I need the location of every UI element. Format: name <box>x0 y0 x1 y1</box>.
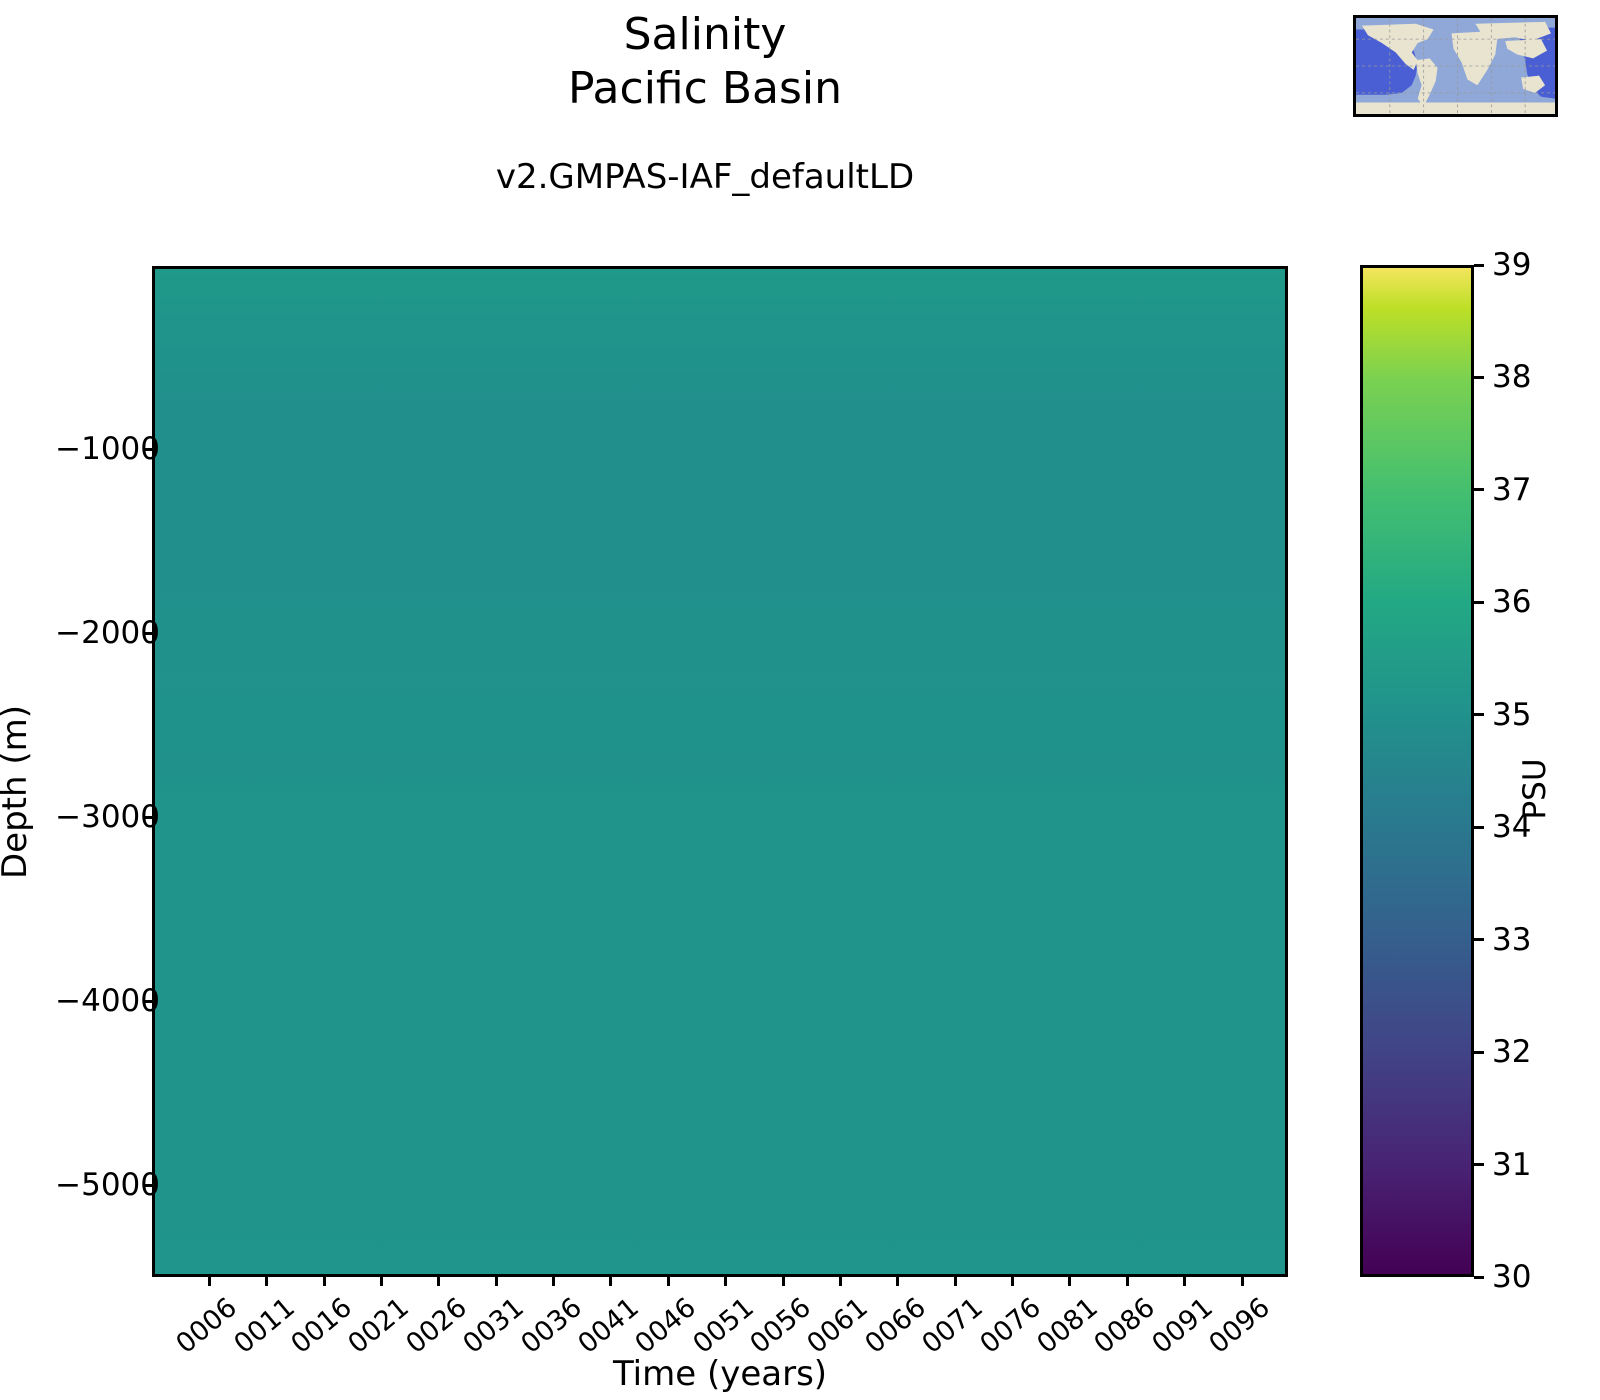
colorbar-tick-label: 32 <box>1492 1034 1531 1070</box>
x-axis-tick <box>609 1277 612 1286</box>
colorbar-label: PSU <box>1517 709 1553 869</box>
colorbar <box>1360 265 1474 1277</box>
x-axis-tick-label: 0036 <box>515 1292 588 1360</box>
y-axis-tick-label: −4000 <box>55 983 160 1019</box>
x-axis-tick-label: 0081 <box>1031 1292 1104 1360</box>
colorbar-tick-label: 39 <box>1492 247 1531 283</box>
x-axis-label: Time (years) <box>152 1354 1288 1394</box>
colorbar-tick-label: 33 <box>1492 922 1531 958</box>
x-axis-tick-label: 0071 <box>917 1292 990 1360</box>
colorbar-tick <box>1474 826 1484 829</box>
y-axis-tick-label: −2000 <box>55 615 160 651</box>
x-axis-tick <box>1183 1277 1186 1286</box>
y-axis-label: Depth (m) <box>0 492 35 1092</box>
pacific-basin-locator-map <box>1353 15 1558 117</box>
x-axis-tick-label: 0031 <box>458 1292 531 1360</box>
colorbar-tick <box>1474 1276 1484 1279</box>
x-axis-tick-label: 0016 <box>285 1292 358 1360</box>
x-axis-tick-label: 0096 <box>1203 1292 1276 1360</box>
y-axis-tick-label: −3000 <box>55 799 160 835</box>
colorbar-tick-label: 36 <box>1492 584 1531 620</box>
salinity-pacific-basin-figure: Salinity Pacific Basin v2.GMPAS-IAF_defa… <box>0 0 1600 1400</box>
x-axis-tick-label: 0041 <box>572 1292 645 1360</box>
figure-subtitle: v2.GMPAS-IAF_defaultLD <box>0 157 1410 197</box>
salinity-heatmap-field <box>155 269 1285 1274</box>
x-axis-tick <box>437 1277 440 1286</box>
x-axis-tick-label: 0086 <box>1089 1292 1162 1360</box>
colorbar-tick <box>1474 1051 1484 1054</box>
colorbar-tick-label: 30 <box>1492 1259 1531 1295</box>
x-axis-tick-label: 0021 <box>343 1292 416 1360</box>
x-axis-tick-label: 0056 <box>744 1292 817 1360</box>
x-axis-tick <box>380 1277 383 1286</box>
colorbar-tick <box>1474 1163 1484 1166</box>
x-axis-tick <box>1126 1277 1129 1286</box>
colorbar-tick-label: 38 <box>1492 359 1531 395</box>
colorbar-tick <box>1474 488 1484 491</box>
x-axis-tick <box>1241 1277 1244 1286</box>
x-axis-tick <box>896 1277 899 1286</box>
colorbar-tick <box>1474 264 1484 267</box>
y-axis-tick-label: −1000 <box>55 431 160 467</box>
x-axis-tick <box>495 1277 498 1286</box>
x-axis-tick-label: 0006 <box>171 1292 244 1360</box>
x-axis-tick-label: 0091 <box>1146 1292 1219 1360</box>
colorbar-tick <box>1474 938 1484 941</box>
x-axis-tick <box>552 1277 555 1286</box>
x-axis-tick <box>1068 1277 1071 1286</box>
colorbar-tick <box>1474 376 1484 379</box>
x-axis-tick-label: 0026 <box>400 1292 473 1360</box>
x-axis-tick <box>724 1277 727 1286</box>
x-axis-tick <box>208 1277 211 1286</box>
x-axis-tick <box>782 1277 785 1286</box>
x-axis-tick-label: 0051 <box>687 1292 760 1360</box>
x-axis-tick <box>265 1277 268 1286</box>
x-axis-tick <box>323 1277 326 1286</box>
x-axis-tick <box>667 1277 670 1286</box>
x-axis-tick <box>954 1277 957 1286</box>
x-axis-tick-label: 0076 <box>974 1292 1047 1360</box>
x-axis-tick-label: 0046 <box>630 1292 703 1360</box>
x-axis-tick <box>839 1277 842 1286</box>
colorbar-tick-label: 31 <box>1492 1147 1531 1183</box>
x-axis-tick <box>1011 1277 1014 1286</box>
x-axis-tick-label: 0011 <box>228 1292 301 1360</box>
x-axis-tick-label: 0066 <box>859 1292 932 1360</box>
y-axis-tick-label: −5000 <box>55 1167 160 1203</box>
x-axis-tick-label: 0061 <box>802 1292 875 1360</box>
heatmap-axes <box>152 266 1288 1277</box>
colorbar-tick <box>1474 601 1484 604</box>
colorbar-tick-label: 37 <box>1492 472 1531 508</box>
locator-map-graphic <box>1356 18 1555 114</box>
colorbar-tick <box>1474 713 1484 716</box>
figure-suptitle: Salinity Pacific Basin <box>0 8 1410 115</box>
